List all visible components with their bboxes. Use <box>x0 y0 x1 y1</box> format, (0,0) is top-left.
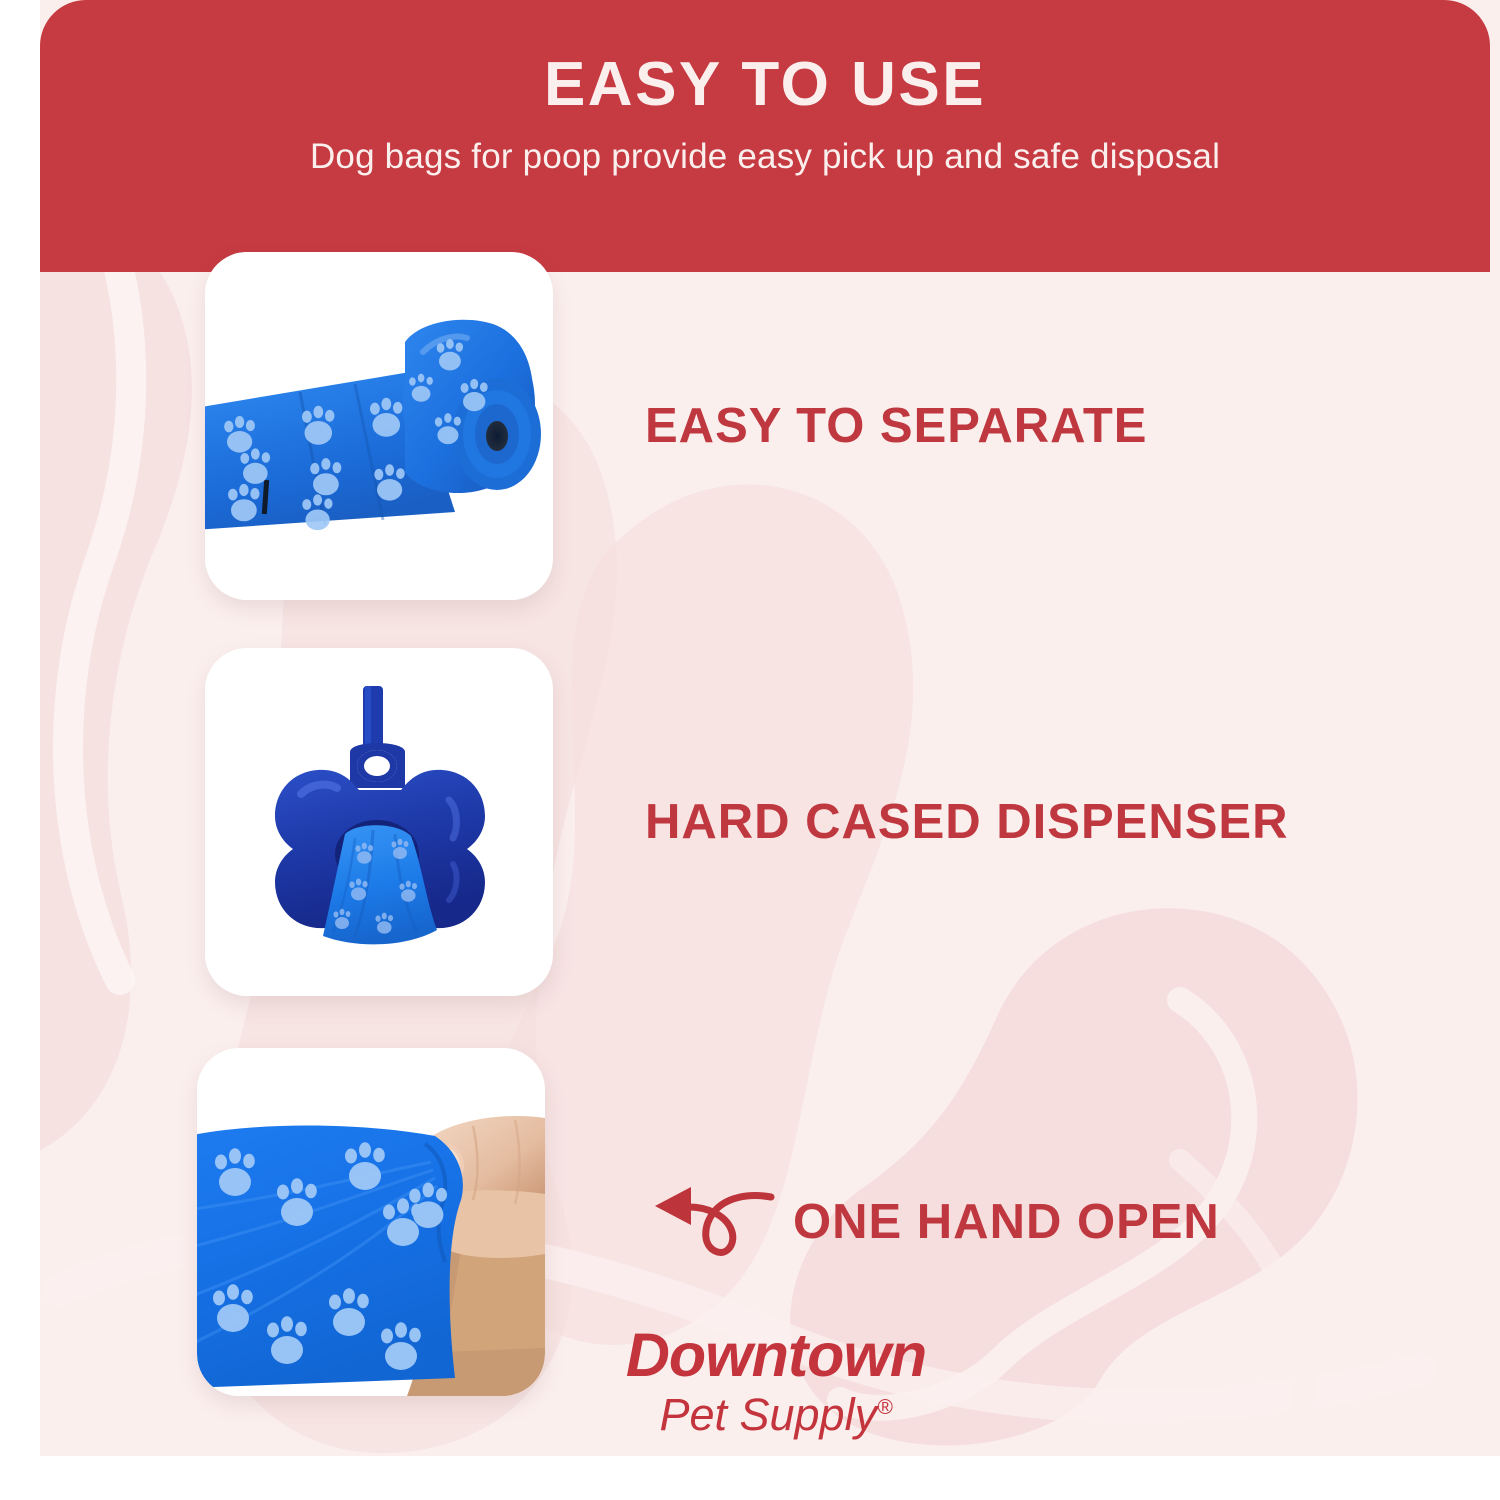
bottom-white-margin <box>0 1456 1500 1500</box>
feature-row-hard-cased-dispenser: HARD CASED DISPENSER <box>205 648 1288 996</box>
one-hand-open-arrow <box>645 1167 775 1277</box>
one-hand-open-illustration <box>197 1048 545 1396</box>
infographic-canvas: EASY TO USE Dog bags for poop provide ea… <box>0 0 1500 1500</box>
brand-name-top: Downtown <box>566 1325 986 1386</box>
bone-dispenser-photo <box>205 648 553 996</box>
feature-label-hard-cased-dispenser: HARD CASED DISPENSER <box>645 794 1288 850</box>
brand-logo: Downtown Pet Supply® <box>566 1325 986 1437</box>
left-white-margin <box>0 0 40 1500</box>
bag-roll-illustration <box>205 252 553 600</box>
feature-label-easy-to-separate: EASY TO SEPARATE <box>645 398 1147 454</box>
curly-arrow-left-icon <box>645 1167 775 1277</box>
page-subtitle: Dog bags for poop provide easy pick up a… <box>310 137 1220 177</box>
feature-row-easy-to-separate: EASY TO SEPARATE <box>205 252 1147 600</box>
brand-name-bottom: Pet Supply® <box>566 1392 986 1437</box>
bone-dispenser-illustration <box>205 648 553 996</box>
registered-trademark-icon: ® <box>877 1396 892 1419</box>
feature-label-one-hand-open: ONE HAND OPEN <box>793 1194 1220 1250</box>
brand-name-bottom-text: Pet Supply <box>659 1389 877 1440</box>
one-hand-open-photo <box>197 1048 545 1396</box>
bag-roll-photo <box>205 252 553 600</box>
page-title: EASY TO USE <box>544 52 986 117</box>
header-banner: EASY TO USE Dog bags for poop provide ea… <box>40 0 1490 272</box>
